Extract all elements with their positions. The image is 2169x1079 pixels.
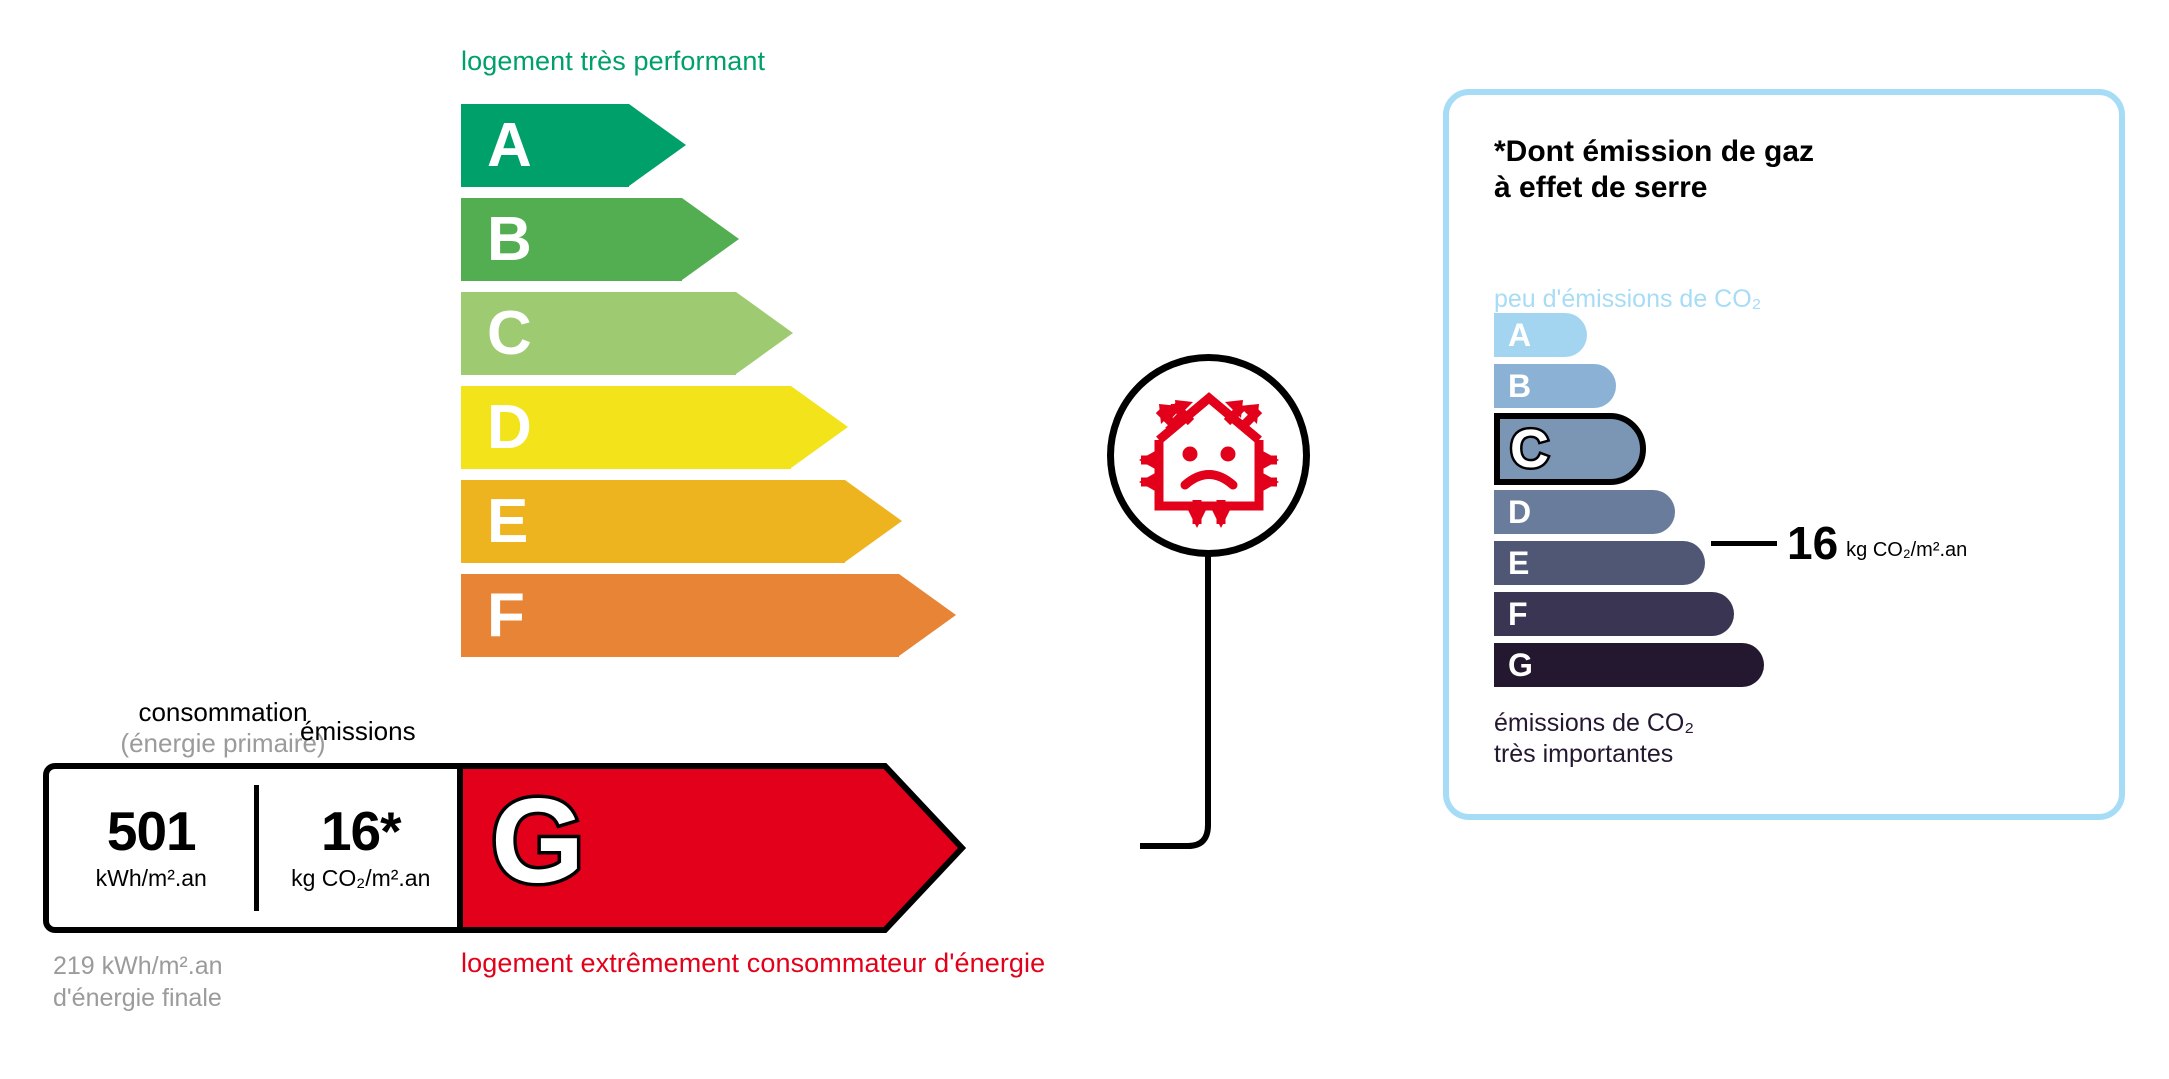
final-energy-footnote-line1: 219 kWh/m².an xyxy=(53,950,223,982)
ghg-class-letter: C xyxy=(1510,422,1549,476)
primary-energy-value: 501 xyxy=(107,804,196,859)
badge-connector-line xyxy=(1100,550,1340,870)
ghg-class-letter: B xyxy=(1508,370,1531,402)
ghg-emissions-panel: *Dont émission de gaz à effet de serre p… xyxy=(1443,89,2125,820)
energy-class-letter: A xyxy=(487,115,532,177)
ghg-panel-title-line1: *Dont émission de gaz xyxy=(1494,134,1814,170)
ghg-high-caption: émissions de CO₂ très importantes xyxy=(1494,708,1694,769)
bar-body: D xyxy=(461,386,791,469)
energy-class-bar-b: B xyxy=(461,198,739,281)
ghg-class-bar-b: B xyxy=(1494,364,1616,408)
bar-tip xyxy=(736,292,793,374)
bar-body: C xyxy=(461,292,736,375)
sad-house-heat-loss-icon xyxy=(1135,382,1283,530)
final-energy-footnote: 219 kWh/m².an d'énergie finale xyxy=(53,950,223,1014)
primary-energy-cell: 501 kWh/m².an xyxy=(49,769,254,927)
energy-class-bars: ABCDEF xyxy=(461,104,956,668)
energy-class-bar-e: E xyxy=(461,480,902,563)
value-box: 501 kWh/m².an 16* kg CO₂/m².an xyxy=(43,763,463,933)
energy-class-letter: B xyxy=(487,209,532,271)
ghg-class-bar-d: D xyxy=(1494,490,1675,534)
ghg-value-unit: kg CO₂/m².an xyxy=(1846,539,1967,562)
emission-unit: kg CO₂/m².an xyxy=(291,865,430,892)
bar-tip xyxy=(629,104,686,186)
final-energy-footnote-line2: d'énergie finale xyxy=(53,982,223,1014)
ghg-class-bar-g: G xyxy=(1494,643,1764,687)
callout-leader-line xyxy=(1711,541,1777,546)
ghg-class-letter: E xyxy=(1508,547,1529,579)
ghg-class-bar-a: A xyxy=(1494,313,1587,357)
ghg-class-letter: D xyxy=(1508,496,1531,528)
ghg-class-bar-c: C xyxy=(1494,413,1646,485)
ghg-class-bars: ABCDEFG xyxy=(1494,313,1764,694)
emission-cell: 16* kg CO₂/m².an xyxy=(259,769,464,927)
ghg-high-caption-line1: émissions de CO₂ xyxy=(1494,708,1694,739)
ghg-class-bar-e: E xyxy=(1494,541,1705,585)
energy-low-caption: logement très performant xyxy=(461,46,765,77)
ghg-panel-title: *Dont émission de gaz à effet de serre xyxy=(1494,134,1814,206)
bar-tip xyxy=(682,198,739,280)
ghg-high-caption-line2: très importantes xyxy=(1494,739,1694,770)
emission-value: 16* xyxy=(321,804,401,859)
dpe-label: logement très performant ABCDEF consomma… xyxy=(0,0,2169,1079)
energy-class-bar-a: A xyxy=(461,104,686,187)
energy-class-letter: F xyxy=(487,585,525,647)
emissions-header: émissions xyxy=(300,716,416,747)
ghg-low-caption: peu d'émissions de CO₂ xyxy=(1494,285,1761,314)
ghg-class-letter: F xyxy=(1508,598,1528,630)
bar-tip xyxy=(791,386,848,468)
selected-class-letter: G xyxy=(491,781,584,901)
energy-high-caption: logement extrêmement consommateur d'éner… xyxy=(461,948,1045,979)
bar-tip xyxy=(899,574,956,656)
bar-body: B xyxy=(461,198,682,281)
bar-body: E xyxy=(461,480,845,563)
energy-performance-section: logement très performant ABCDEF consomma… xyxy=(0,0,1360,1079)
primary-energy-unit: kWh/m².an xyxy=(96,865,207,892)
energy-class-letter: E xyxy=(487,491,528,553)
ghg-class-letter: G xyxy=(1508,649,1533,681)
energy-class-letter: C xyxy=(487,303,532,365)
ghg-value-callout: 16 kg CO₂/m².an xyxy=(1711,520,1967,566)
selected-class-arrow: G xyxy=(457,763,967,933)
energy-class-bar-d: D xyxy=(461,386,848,469)
bar-body: A xyxy=(461,104,629,187)
ghg-class-letter: A xyxy=(1508,319,1531,351)
ghg-value: 16 xyxy=(1787,520,1838,566)
energy-class-letter: D xyxy=(487,397,532,459)
energy-rating-badge xyxy=(1107,354,1310,557)
bar-body: F xyxy=(461,574,899,657)
ghg-class-bar-f: F xyxy=(1494,592,1734,636)
ghg-panel-title-line2: à effet de serre xyxy=(1494,170,1814,206)
energy-class-bar-c: C xyxy=(461,292,793,375)
energy-class-bar-f: F xyxy=(461,574,956,657)
bar-tip xyxy=(845,480,902,562)
